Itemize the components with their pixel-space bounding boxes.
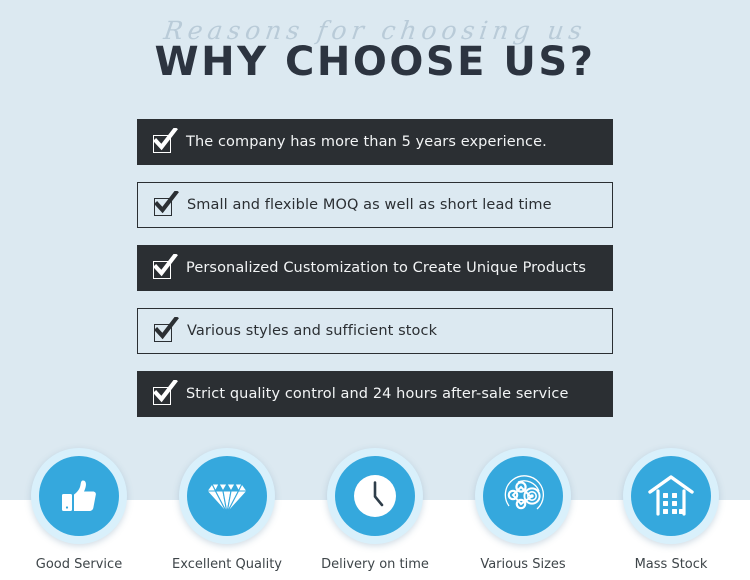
script-subtitle: Reasons for choosing us	[0, 18, 750, 48]
icon-disc	[335, 456, 415, 536]
icon-disc	[39, 456, 119, 536]
reason-row[interactable]: Various styles and sufficient stock	[137, 308, 613, 354]
feature-icon-wrap	[179, 448, 275, 544]
feature-label: Various Sizes	[452, 557, 594, 572]
checkmark-icon	[153, 385, 172, 404]
icon-disc	[483, 456, 563, 536]
icon-disc	[631, 456, 711, 536]
feature-delivery-on-time[interactable]: Delivery on time	[304, 448, 446, 572]
features-row: Good Service	[0, 448, 750, 572]
feature-label: Good Service	[8, 557, 150, 572]
header: Reasons for choosing us WHY CHOOSE US?	[0, 18, 750, 84]
feature-icon-wrap	[475, 448, 571, 544]
icon-disc	[187, 456, 267, 536]
feature-icon-wrap	[623, 448, 719, 544]
reason-label: The company has more than 5 years experi…	[186, 134, 547, 150]
network-nodes-icon	[496, 469, 550, 523]
warehouse-icon	[645, 471, 697, 521]
thumbs-up-icon	[56, 473, 102, 519]
checkmark-icon	[154, 196, 173, 215]
feature-various-sizes[interactable]: Various Sizes	[452, 448, 594, 572]
feature-label: Excellent Quality	[156, 557, 298, 572]
reason-label: Small and flexible MOQ as well as short …	[187, 197, 552, 213]
reason-label: Various styles and sufficient stock	[187, 323, 437, 339]
reason-row[interactable]: Strict quality control and 24 hours afte…	[137, 371, 613, 417]
feature-good-service[interactable]: Good Service	[8, 448, 150, 572]
diamond-icon	[203, 473, 251, 519]
reason-label: Personalized Customization to Create Uni…	[186, 260, 586, 276]
checkmark-icon	[153, 133, 172, 152]
feature-excellent-quality[interactable]: Excellent Quality	[156, 448, 298, 572]
checkmark-icon	[153, 259, 172, 278]
checkmark-icon	[154, 322, 173, 341]
feature-label: Delivery on time	[304, 557, 446, 572]
clock-icon	[347, 468, 403, 524]
reason-row[interactable]: The company has more than 5 years experi…	[137, 119, 613, 165]
reason-row[interactable]: Small and flexible MOQ as well as short …	[137, 182, 613, 228]
poster-canvas: Reasons for choosing us WHY CHOOSE US? T…	[0, 0, 750, 580]
reason-label: Strict quality control and 24 hours afte…	[186, 386, 569, 402]
feature-label: Mass Stock	[600, 557, 742, 572]
feature-icon-wrap	[327, 448, 423, 544]
reasons-list: The company has more than 5 years experi…	[137, 119, 613, 434]
feature-mass-stock[interactable]: Mass Stock	[600, 448, 742, 572]
feature-icon-wrap	[31, 448, 127, 544]
reason-row[interactable]: Personalized Customization to Create Uni…	[137, 245, 613, 291]
